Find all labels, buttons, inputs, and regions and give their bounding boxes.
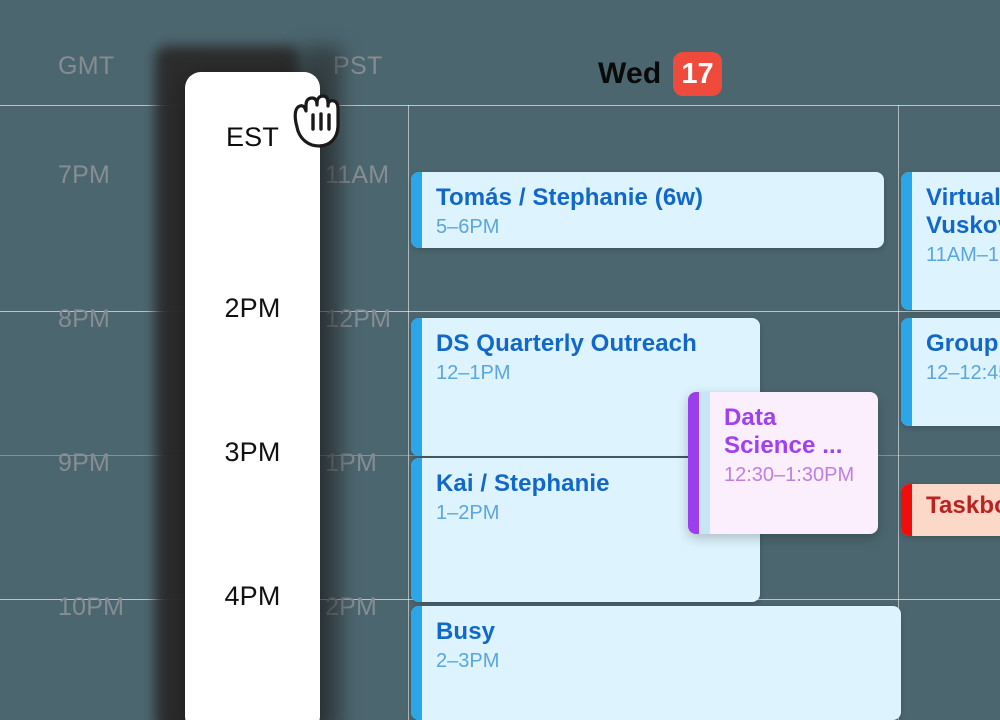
picker-time-2[interactable]: 4PM xyxy=(185,581,320,612)
event-virtual-vuskov[interactable]: Virtual Vuskov 11AM–12 xyxy=(901,172,1000,310)
event-time: 12–1PM xyxy=(436,362,746,385)
event-accent-bar xyxy=(411,172,422,248)
day-number-badge: 17 xyxy=(673,52,721,96)
event-tomas-stephanie[interactable]: Tomás / Stephanie (6w) 5–6PM xyxy=(411,172,884,248)
event-data-science[interactable]: Data Science ... 12:30–1:30PM xyxy=(688,392,878,534)
event-accent-bar xyxy=(688,392,699,534)
grabbing-hand-cursor xyxy=(288,93,350,151)
event-accent-bar xyxy=(901,484,912,536)
event-title: Group xyxy=(926,330,1000,358)
column-separator-1 xyxy=(408,105,409,720)
gmt-time-1: 8PM xyxy=(58,305,110,334)
event-time: 11AM–12 xyxy=(926,244,1000,267)
event-group[interactable]: Group 12–12:45 xyxy=(901,318,1000,426)
event-body: Virtual Vuskov 11AM–12 xyxy=(912,172,1000,310)
day-header[interactable]: Wed 17 xyxy=(598,52,722,96)
picker-time-0[interactable]: 2PM xyxy=(185,293,320,324)
gmt-time-0: 7PM xyxy=(58,161,110,190)
event-body: Data Science ... 12:30–1:30PM xyxy=(710,392,878,534)
hour-gridline-12pm xyxy=(0,311,1000,312)
event-title: Taskbo xyxy=(926,492,1000,520)
picker-time-1[interactable]: 3PM xyxy=(185,437,320,468)
event-time: 12–12:45 xyxy=(926,362,1000,385)
day-name-label: Wed xyxy=(598,57,661,91)
event-body: Tomás / Stephanie (6w) 5–6PM xyxy=(422,172,884,248)
event-time: 12:30–1:30PM xyxy=(724,464,864,487)
event-accent-bar xyxy=(901,318,912,426)
event-accent-bar xyxy=(901,172,912,310)
gmt-time-2: 9PM xyxy=(58,449,110,478)
event-time: 5–6PM xyxy=(436,216,870,239)
event-secondary-bar xyxy=(699,392,710,534)
event-title: DS Quarterly Outreach xyxy=(436,330,746,358)
timezone-label-gmt: GMT xyxy=(58,52,114,81)
calendar-screen: GMT PST 7PM 8PM 9PM 10PM 11AM 12PM 1PM 2… xyxy=(0,0,1000,720)
timezone-picker-panel[interactable]: EST 2PM 3PM 4PM 5PM xyxy=(185,72,320,720)
event-title: Tomás / Stephanie (6w) xyxy=(436,184,870,212)
event-title: Data Science ... xyxy=(724,404,864,460)
event-body: Taskbo xyxy=(912,484,1000,536)
event-title: Busy xyxy=(436,618,887,646)
event-busy[interactable]: Busy 2–3PM xyxy=(411,606,901,720)
event-title: Virtual Vuskov xyxy=(926,184,1000,240)
event-time: 2–3PM xyxy=(436,650,887,673)
event-taskboard[interactable]: Taskbo xyxy=(901,484,1000,536)
event-accent-bar xyxy=(411,606,422,720)
event-body: Busy 2–3PM xyxy=(422,606,901,720)
event-body: Group 12–12:45 xyxy=(912,318,1000,426)
hour-gridline-top xyxy=(0,105,1000,106)
gmt-time-3: 10PM xyxy=(58,593,124,622)
event-accent-bar xyxy=(411,318,422,456)
event-accent-bar xyxy=(411,458,422,602)
